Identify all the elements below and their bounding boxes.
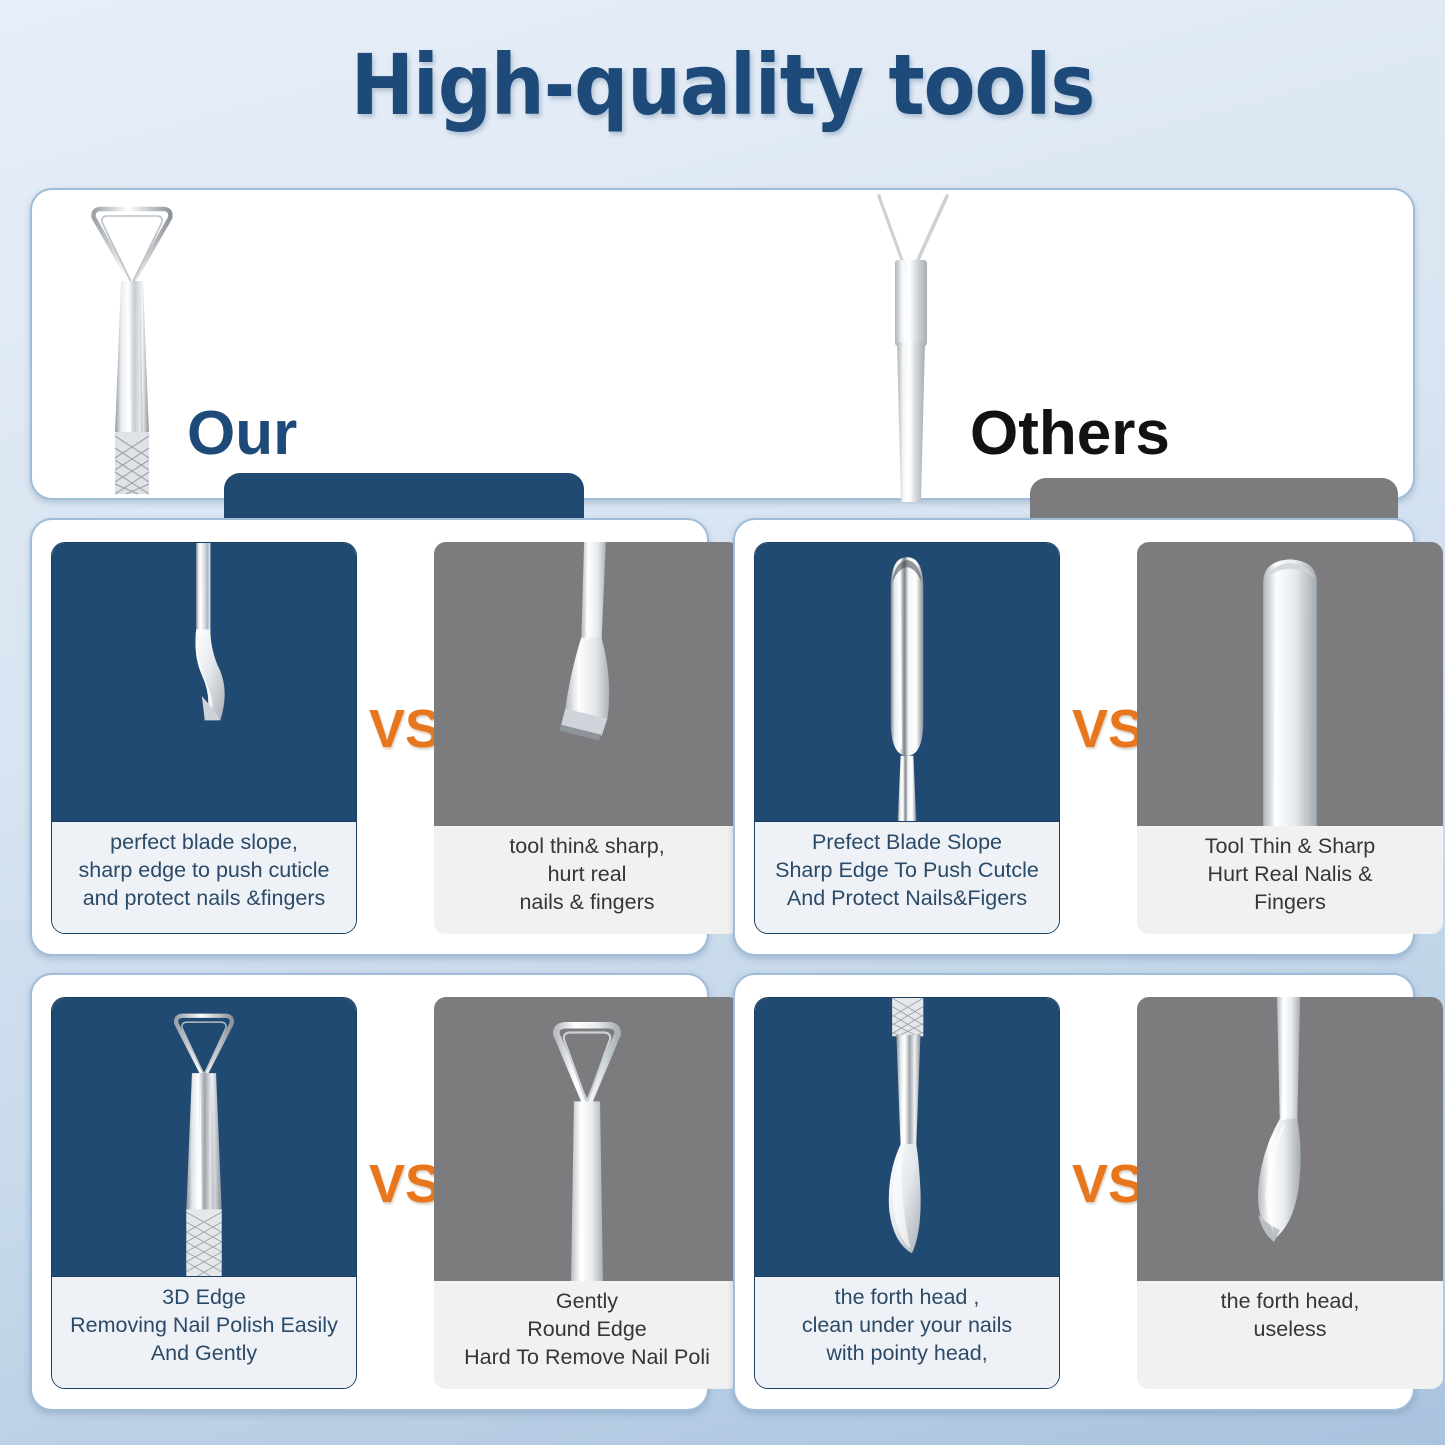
pointy-spoon-head-icon — [812, 998, 1002, 1276]
our-label: Our — [187, 403, 297, 465]
our-tile-rounded-blade: Prefect Blade Slope Sharp Edge To Push C… — [754, 542, 1060, 934]
comparison-card-rounded-blade: Prefect Blade Slope Sharp Edge To Push C… — [733, 518, 1415, 956]
round-edge-loop-tool-icon — [487, 997, 687, 1281]
others-tile-image — [1137, 997, 1443, 1281]
others-tile-rounded-blade: Tool Thin & Sharp Hurt Real Nalis & Fing… — [1137, 542, 1443, 934]
others-label: Others — [970, 403, 1170, 465]
vs-badge: VS — [369, 698, 441, 760]
our-tile-image — [755, 998, 1059, 1276]
others-tile-blade-slope: tool thin& sharp, hurt real nails & fing… — [434, 542, 740, 934]
others-tile-image — [1137, 542, 1443, 826]
our-caption: 3D Edge Removing Nail Polish Easily And … — [52, 1276, 356, 1388]
our-tile-forth-head: the forth head , clean under your nails … — [754, 997, 1060, 1389]
others-tile-image — [434, 542, 740, 826]
others-tile-3d-edge: Gently Round Edge Hard To Remove Nail Po… — [434, 997, 740, 1389]
our-full-tool-illustration — [72, 196, 192, 496]
rounded-pusher-tool-icon — [812, 543, 1002, 821]
our-tile-image — [755, 543, 1059, 821]
others-caption: tool thin& sharp, hurt real nails & fing… — [434, 826, 740, 934]
others-tile-forth-head: the forth head, useless — [1137, 997, 1443, 1389]
useless-flat-head-icon — [1190, 997, 1390, 1281]
angled-blade-tool-icon — [109, 543, 299, 821]
our-tile-image — [52, 998, 356, 1276]
others-caption: Gently Round Edge Hard To Remove Nail Po… — [434, 1281, 740, 1389]
vs-badge: VS — [369, 1153, 441, 1215]
vs-badge: VS — [1072, 698, 1144, 760]
comparison-card-forth-head: the forth head , clean under your nails … — [733, 973, 1415, 1411]
triangle-loop-tool-icon — [109, 998, 299, 1276]
our-caption: the forth head , clean under your nails … — [755, 1276, 1059, 1388]
others-full-tool-illustration — [847, 190, 977, 502]
others-caption: Tool Thin & Sharp Hurt Real Nalis & Fing… — [1137, 826, 1443, 934]
comparison-card-blade-slope: perfect blade slope, sharp edge to push … — [30, 518, 709, 956]
our-tile-image — [52, 543, 356, 821]
our-caption: perfect blade slope, sharp edge to push … — [52, 821, 356, 933]
page-title: High-quality tools — [0, 36, 1445, 134]
our-tile-blade-slope: perfect blade slope, sharp edge to push … — [51, 542, 357, 934]
vs-badge: VS — [1072, 1153, 1144, 1215]
flat-wide-blade-icon — [1185, 542, 1395, 826]
others-tile-image — [434, 997, 740, 1281]
others-caption: the forth head, useless — [1137, 1281, 1443, 1389]
top-comparison-card: Our Others — [30, 188, 1415, 500]
thin-sharp-blade-icon — [487, 542, 687, 826]
comparison-card-3d-edge: 3D Edge Removing Nail Polish Easily And … — [30, 973, 709, 1411]
our-caption: Prefect Blade Slope Sharp Edge To Push C… — [755, 821, 1059, 933]
our-tile-3d-edge: 3D Edge Removing Nail Polish Easily And … — [51, 997, 357, 1389]
infographic-page: High-quality tools — [0, 0, 1445, 1445]
